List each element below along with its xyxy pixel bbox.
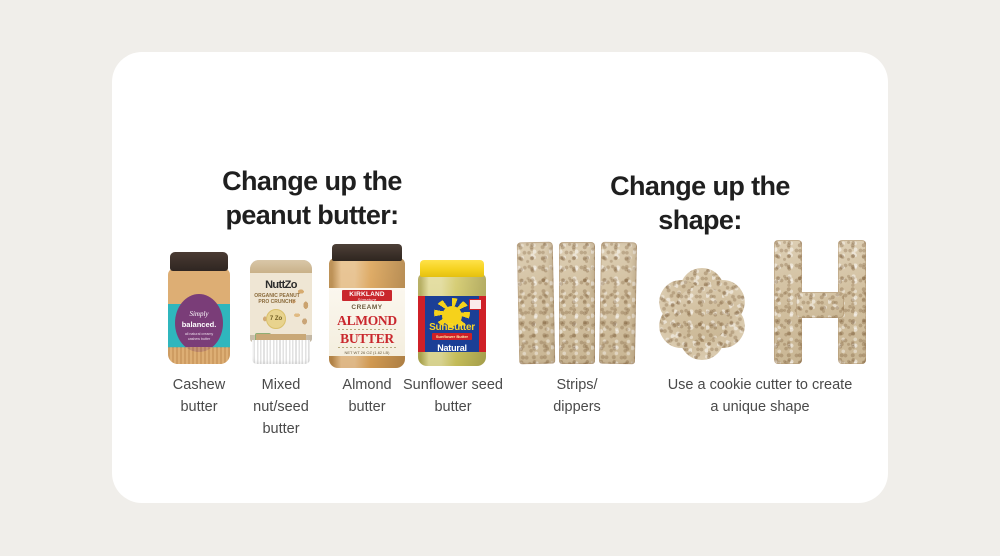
brand-line2: balanced. xyxy=(175,320,223,329)
seal-badge: 7 Zo xyxy=(266,309,286,329)
bread-strip xyxy=(559,242,595,364)
bread-strips xyxy=(518,242,636,364)
flower-center xyxy=(674,286,730,342)
screenshot-root: Change up the peanut butter: Simply bala… xyxy=(0,0,1000,556)
peanut-butter-heading: Change up the peanut butter: xyxy=(130,164,494,232)
caption-strips-dippers: Strips/ dippers xyxy=(520,374,634,418)
product-variant: Natural xyxy=(418,343,486,353)
caption-cookie-cutter: Use a cookie cutter to create a unique s… xyxy=(638,374,882,418)
item-mixed-nut-seed-butter[interactable]: NuttZo ORGANIC PEANUT PRO CRUNCHY 7 Zo xyxy=(240,252,322,364)
item-cashew-butter[interactable]: Simply balanced. all natural creamy cash… xyxy=(158,242,240,364)
jar-body: SunButter Sunflower Butter Natural xyxy=(418,274,486,366)
content-card: Change up the peanut butter: Simply bala… xyxy=(112,52,888,503)
jar-base-ridges xyxy=(168,347,230,364)
shape-heading: Change up the shape: xyxy=(524,169,876,237)
product-descriptor: all natural creamy cashew butter xyxy=(179,332,219,342)
simply-balanced-jar: Simply balanced. all natural creamy cash… xyxy=(168,252,230,364)
jar-top xyxy=(250,260,312,273)
jar-lid xyxy=(252,340,310,364)
jar-body: Simply balanced. all natural creamy cash… xyxy=(168,268,230,364)
item-sunflower-seed-butter[interactable]: SunButter Sunflower Butter Natural xyxy=(408,252,496,366)
kirkland-almond-butter-jar-image: KIRKLAND Signature CREAMY ALMOND BUTTER … xyxy=(329,244,405,368)
brand-line1: Simply xyxy=(175,310,223,318)
nuttzo-jar-image: NuttZo ORGANIC PEANUT PRO CRUNCHY 7 Zo xyxy=(250,260,312,364)
net-weight: NET WT 26 OZ (1.62 LB) xyxy=(329,350,405,355)
jar-body: NuttZo ORGANIC PEANUT PRO CRUNCHY 7 Zo xyxy=(250,260,312,342)
product-descriptor: ORGANIC PEANUT PRO CRUNCHY xyxy=(254,293,300,305)
kirkland-jar: KIRKLAND Signature CREAMY ALMOND BUTTER … xyxy=(329,244,405,368)
label-divider-top xyxy=(338,329,396,330)
brand-name: NuttZo xyxy=(250,279,312,291)
bread-flower-image xyxy=(650,264,754,364)
brand-name: SunButter xyxy=(418,322,486,333)
bread-letter-h xyxy=(772,240,868,364)
jar-label-oval: Simply balanced. all natural creamy cash… xyxy=(175,294,223,352)
caption-sunflower-seed-butter: Sunflower seed butter xyxy=(394,374,512,418)
product-descriptor: CREAMY xyxy=(329,304,405,311)
bread-strips-image xyxy=(518,242,636,364)
jar-lid xyxy=(332,244,402,261)
jar-label: NuttZo ORGANIC PEANUT PRO CRUNCHY 7 Zo xyxy=(250,273,312,335)
jar-lid xyxy=(420,260,484,277)
item-cookie-cutter-shape[interactable] xyxy=(644,257,760,364)
caption-mixed-nut-seed-butter: Mixed nut/seed butter xyxy=(234,374,328,440)
item-strips-dippers[interactable] xyxy=(512,242,642,364)
cashew-butter-jar-image: Simply balanced. all natural creamy cash… xyxy=(168,252,230,364)
brand-sub: Signature xyxy=(342,298,392,302)
sunbutter-jar-image: SunButter Sunflower Butter Natural xyxy=(418,260,486,366)
bread-strip xyxy=(517,242,556,365)
label-divider-bottom xyxy=(338,347,396,348)
caption-cashew-butter: Cashew butter xyxy=(152,374,246,418)
letter-stroke-middle xyxy=(796,292,844,318)
jar-label: KIRKLAND Signature CREAMY ALMOND BUTTER … xyxy=(329,288,405,356)
product-line1: ALMOND xyxy=(329,313,405,329)
item-letter-shape[interactable] xyxy=(764,240,876,364)
label-badge xyxy=(469,299,482,310)
item-almond-butter[interactable]: KIRKLAND Signature CREAMY ALMOND BUTTER … xyxy=(324,238,410,368)
product-descriptor: Sunflower Butter xyxy=(432,333,472,340)
bread-letter-image xyxy=(772,240,868,364)
brand-banner: KIRKLAND Signature xyxy=(342,290,392,301)
bread-flower xyxy=(650,264,754,364)
product-line2: BUTTER xyxy=(329,331,405,347)
sunbutter-jar: SunButter Sunflower Butter Natural xyxy=(418,260,486,366)
bread-strip xyxy=(599,242,637,365)
jar-body: KIRKLAND Signature CREAMY ALMOND BUTTER … xyxy=(329,258,405,368)
jar-lid xyxy=(170,252,228,271)
nuttzo-jar: NuttZo ORGANIC PEANUT PRO CRUNCHY 7 Zo xyxy=(250,260,312,364)
